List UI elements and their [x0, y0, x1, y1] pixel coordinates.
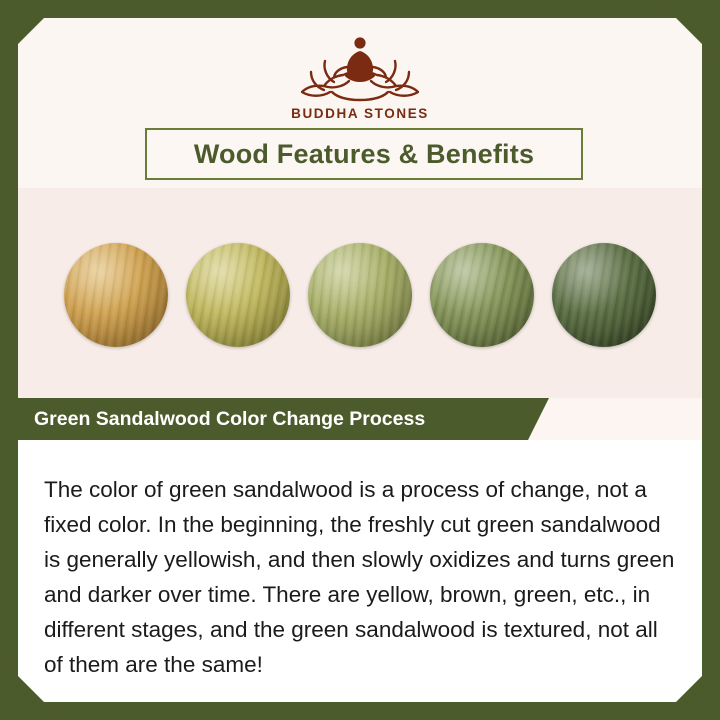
beads-band — [18, 188, 702, 398]
corner-decoration-bottom-right — [658, 658, 720, 720]
section-bar: Green Sandalwood Color Change Process — [18, 398, 528, 440]
section-label: Green Sandalwood Color Change Process — [34, 408, 425, 431]
bead-stage-1 — [64, 243, 168, 347]
brand-logo: BUDDHA STONES — [0, 26, 720, 121]
bead-gloss — [430, 243, 534, 347]
beads-row — [18, 234, 702, 356]
bead-gloss — [308, 243, 412, 347]
body-card: The color of green sandalwood is a proce… — [18, 440, 702, 702]
bead-stage-3 — [308, 243, 412, 347]
bead-gloss — [186, 243, 290, 347]
lotus-buddha-icon — [285, 26, 435, 104]
bead-stage-2 — [186, 243, 290, 347]
infographic-page: Green Sandalwood Color Change Process Th… — [0, 0, 720, 720]
bead-stage-5 — [552, 243, 656, 347]
brand-name: BUDDHA STONES — [0, 106, 720, 121]
corner-decoration-bottom-left — [0, 658, 62, 720]
title-banner: Wood Features & Benefits — [145, 128, 583, 180]
body-paragraph: The color of green sandalwood is a proce… — [44, 472, 682, 682]
bead-gloss — [64, 243, 168, 347]
page-title: Wood Features & Benefits — [194, 139, 534, 170]
bead-gloss — [552, 243, 656, 347]
bead-stage-4 — [430, 243, 534, 347]
